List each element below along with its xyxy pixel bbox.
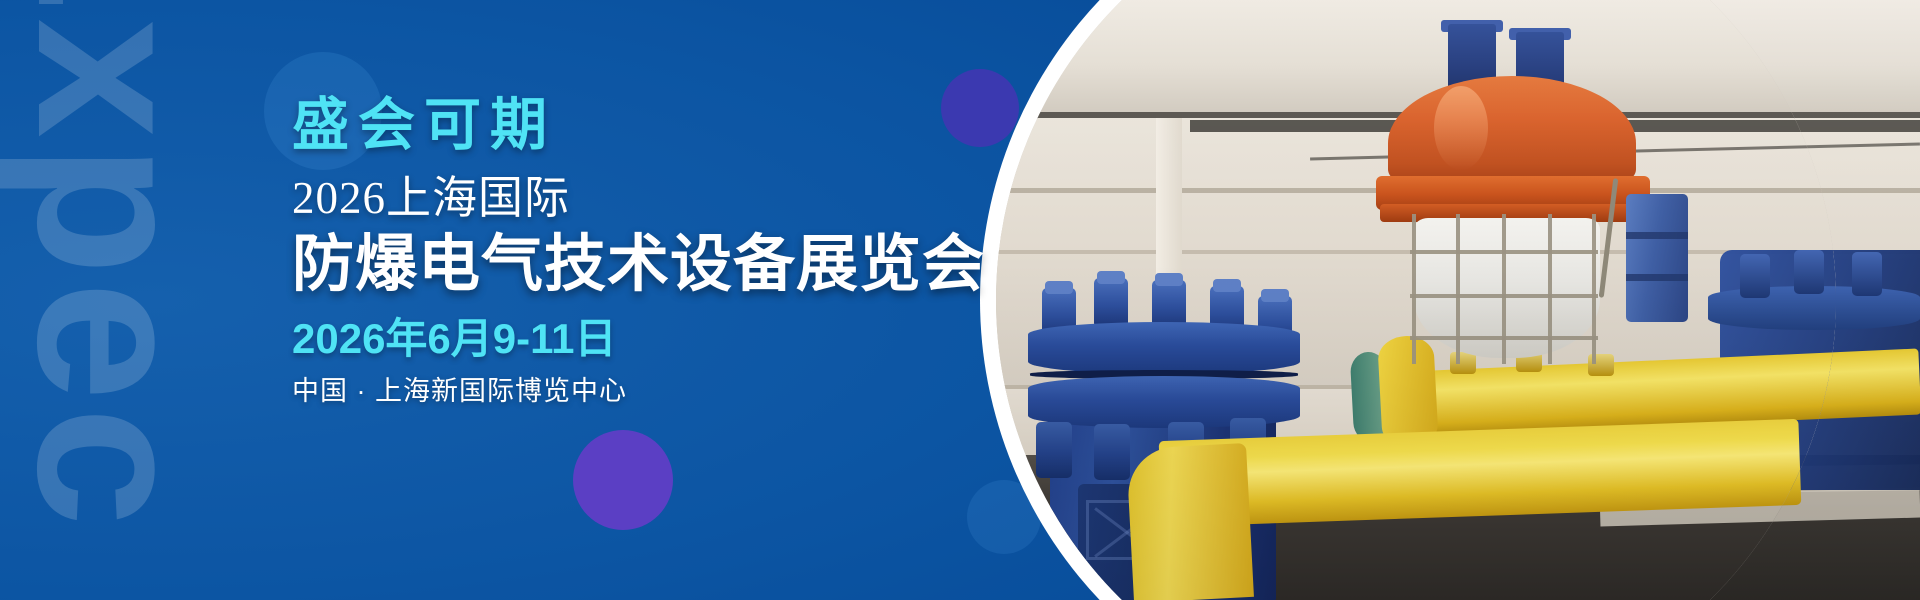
banner-photo bbox=[980, 0, 1920, 600]
event-date: 2026年6月9-11日 bbox=[292, 317, 992, 361]
event-venue: 中国 · 上海新国际博览中心 bbox=[292, 377, 992, 405]
event-banner: Expec 盛会可期 2026上海国际 防爆电气技术设备展览会 2026年6月9… bbox=[0, 0, 1920, 600]
explosion-proof-lamp bbox=[1370, 18, 1730, 358]
banner-copy: 盛会可期 2026上海国际 防爆电气技术设备展览会 2026年6月9-11日 中… bbox=[292, 96, 992, 405]
photo-scene-disc bbox=[996, 0, 1836, 600]
photo-circular-crop bbox=[996, 0, 1836, 600]
subtitle-text: 2026上海国际 bbox=[292, 175, 992, 222]
page-title: 防爆电气技术设备展览会 bbox=[292, 231, 992, 300]
kicker-text: 盛会可期 bbox=[292, 96, 992, 156]
